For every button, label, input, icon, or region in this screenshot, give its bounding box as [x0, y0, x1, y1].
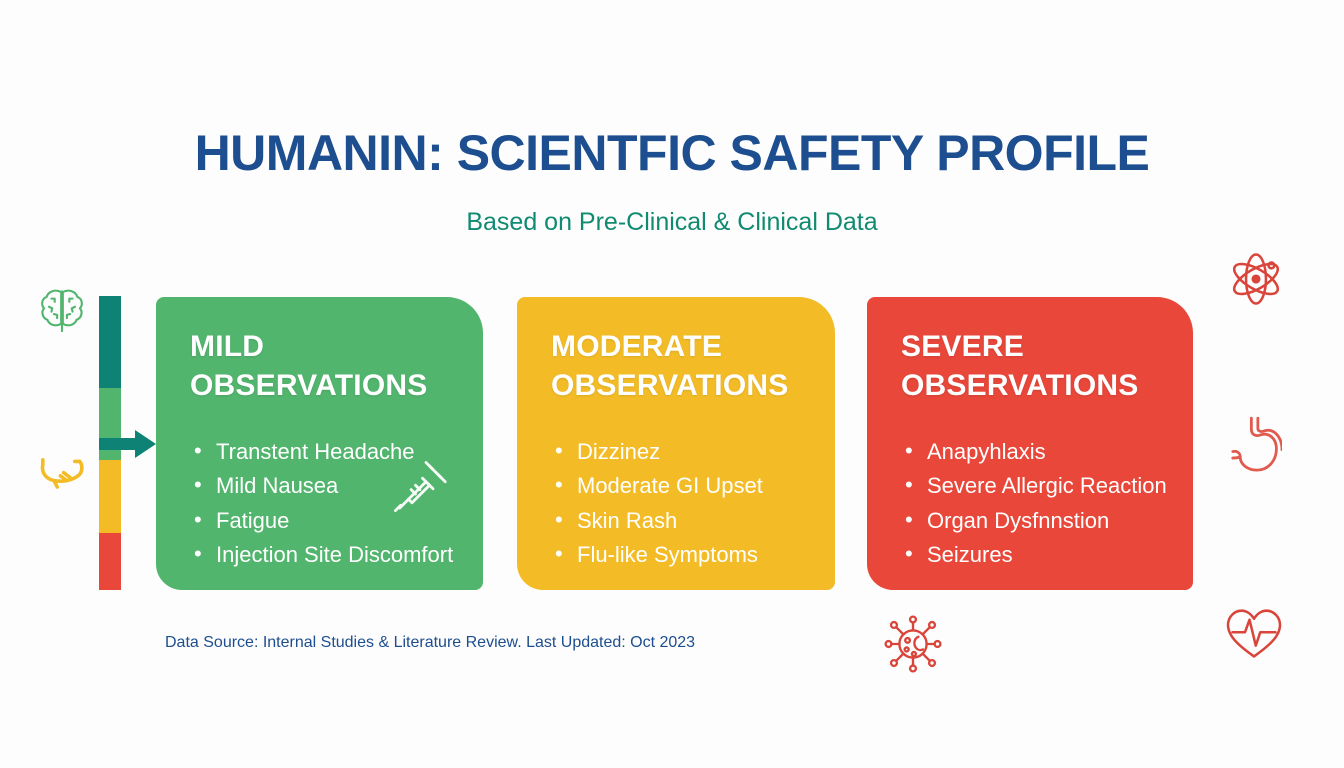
card-severe-title: SEVERE OBSERVATIONS — [901, 327, 1193, 405]
brain-icon — [36, 284, 88, 336]
card-severe[interactable]: SEVERE OBSERVATIONS Anapyhlaxis Severe A… — [867, 297, 1193, 590]
footer-source-note: Data Source: Internal Studies & Literatu… — [165, 634, 695, 652]
stomach-icon — [1230, 415, 1282, 477]
page-subtitle: Based on Pre-Clinical & Clinical Data — [0, 208, 1344, 237]
list-item: Dizzinez — [551, 435, 835, 469]
syringe-icon — [391, 459, 447, 515]
page-title: HUMANIN: SCIENTFIC SAFETY PROFILE — [0, 124, 1344, 182]
card-severe-list: Anapyhlaxis Severe Allergic Reaction Org… — [901, 435, 1193, 572]
card-moderate-list: Dizzinez Moderate GI Upset Skin Rash Flu… — [551, 435, 835, 572]
severity-pointer-arrow — [99, 428, 157, 460]
list-item: Flu-like Symptoms — [551, 538, 835, 572]
infographic-canvas: HUMANIN: SCIENTFIC SAFETY PROFILE Based … — [0, 0, 1344, 768]
list-item: Anapyhlaxis — [901, 435, 1193, 469]
list-item: Skin Rash — [551, 504, 835, 538]
card-moderate-title: MODERATE OBSERVATIONS — [551, 327, 835, 405]
list-item: Organ Dysfnnstion — [901, 504, 1193, 538]
card-moderate[interactable]: MODERATE OBSERVATIONS Dizzinez Moderate … — [517, 297, 835, 590]
list-item: Severe Allergic Reaction — [901, 469, 1193, 503]
card-mild[interactable]: MILD OBSERVATIONS Transtent Headache Mil… — [156, 297, 483, 590]
heartbeat-icon — [1225, 608, 1283, 660]
virus-icon — [884, 615, 942, 673]
list-item: Moderate GI Upset — [551, 469, 835, 503]
severity-segment-moderate — [99, 460, 121, 533]
list-item: Seizures — [901, 538, 1193, 572]
arm-injection-icon — [36, 455, 88, 495]
list-item: Injection Site Discomfort — [190, 538, 483, 572]
severity-segment-baseline — [99, 296, 121, 388]
atom-icon — [1227, 250, 1285, 308]
card-mild-title: MILD OBSERVATIONS — [190, 327, 483, 405]
severity-segment-severe — [99, 533, 121, 590]
